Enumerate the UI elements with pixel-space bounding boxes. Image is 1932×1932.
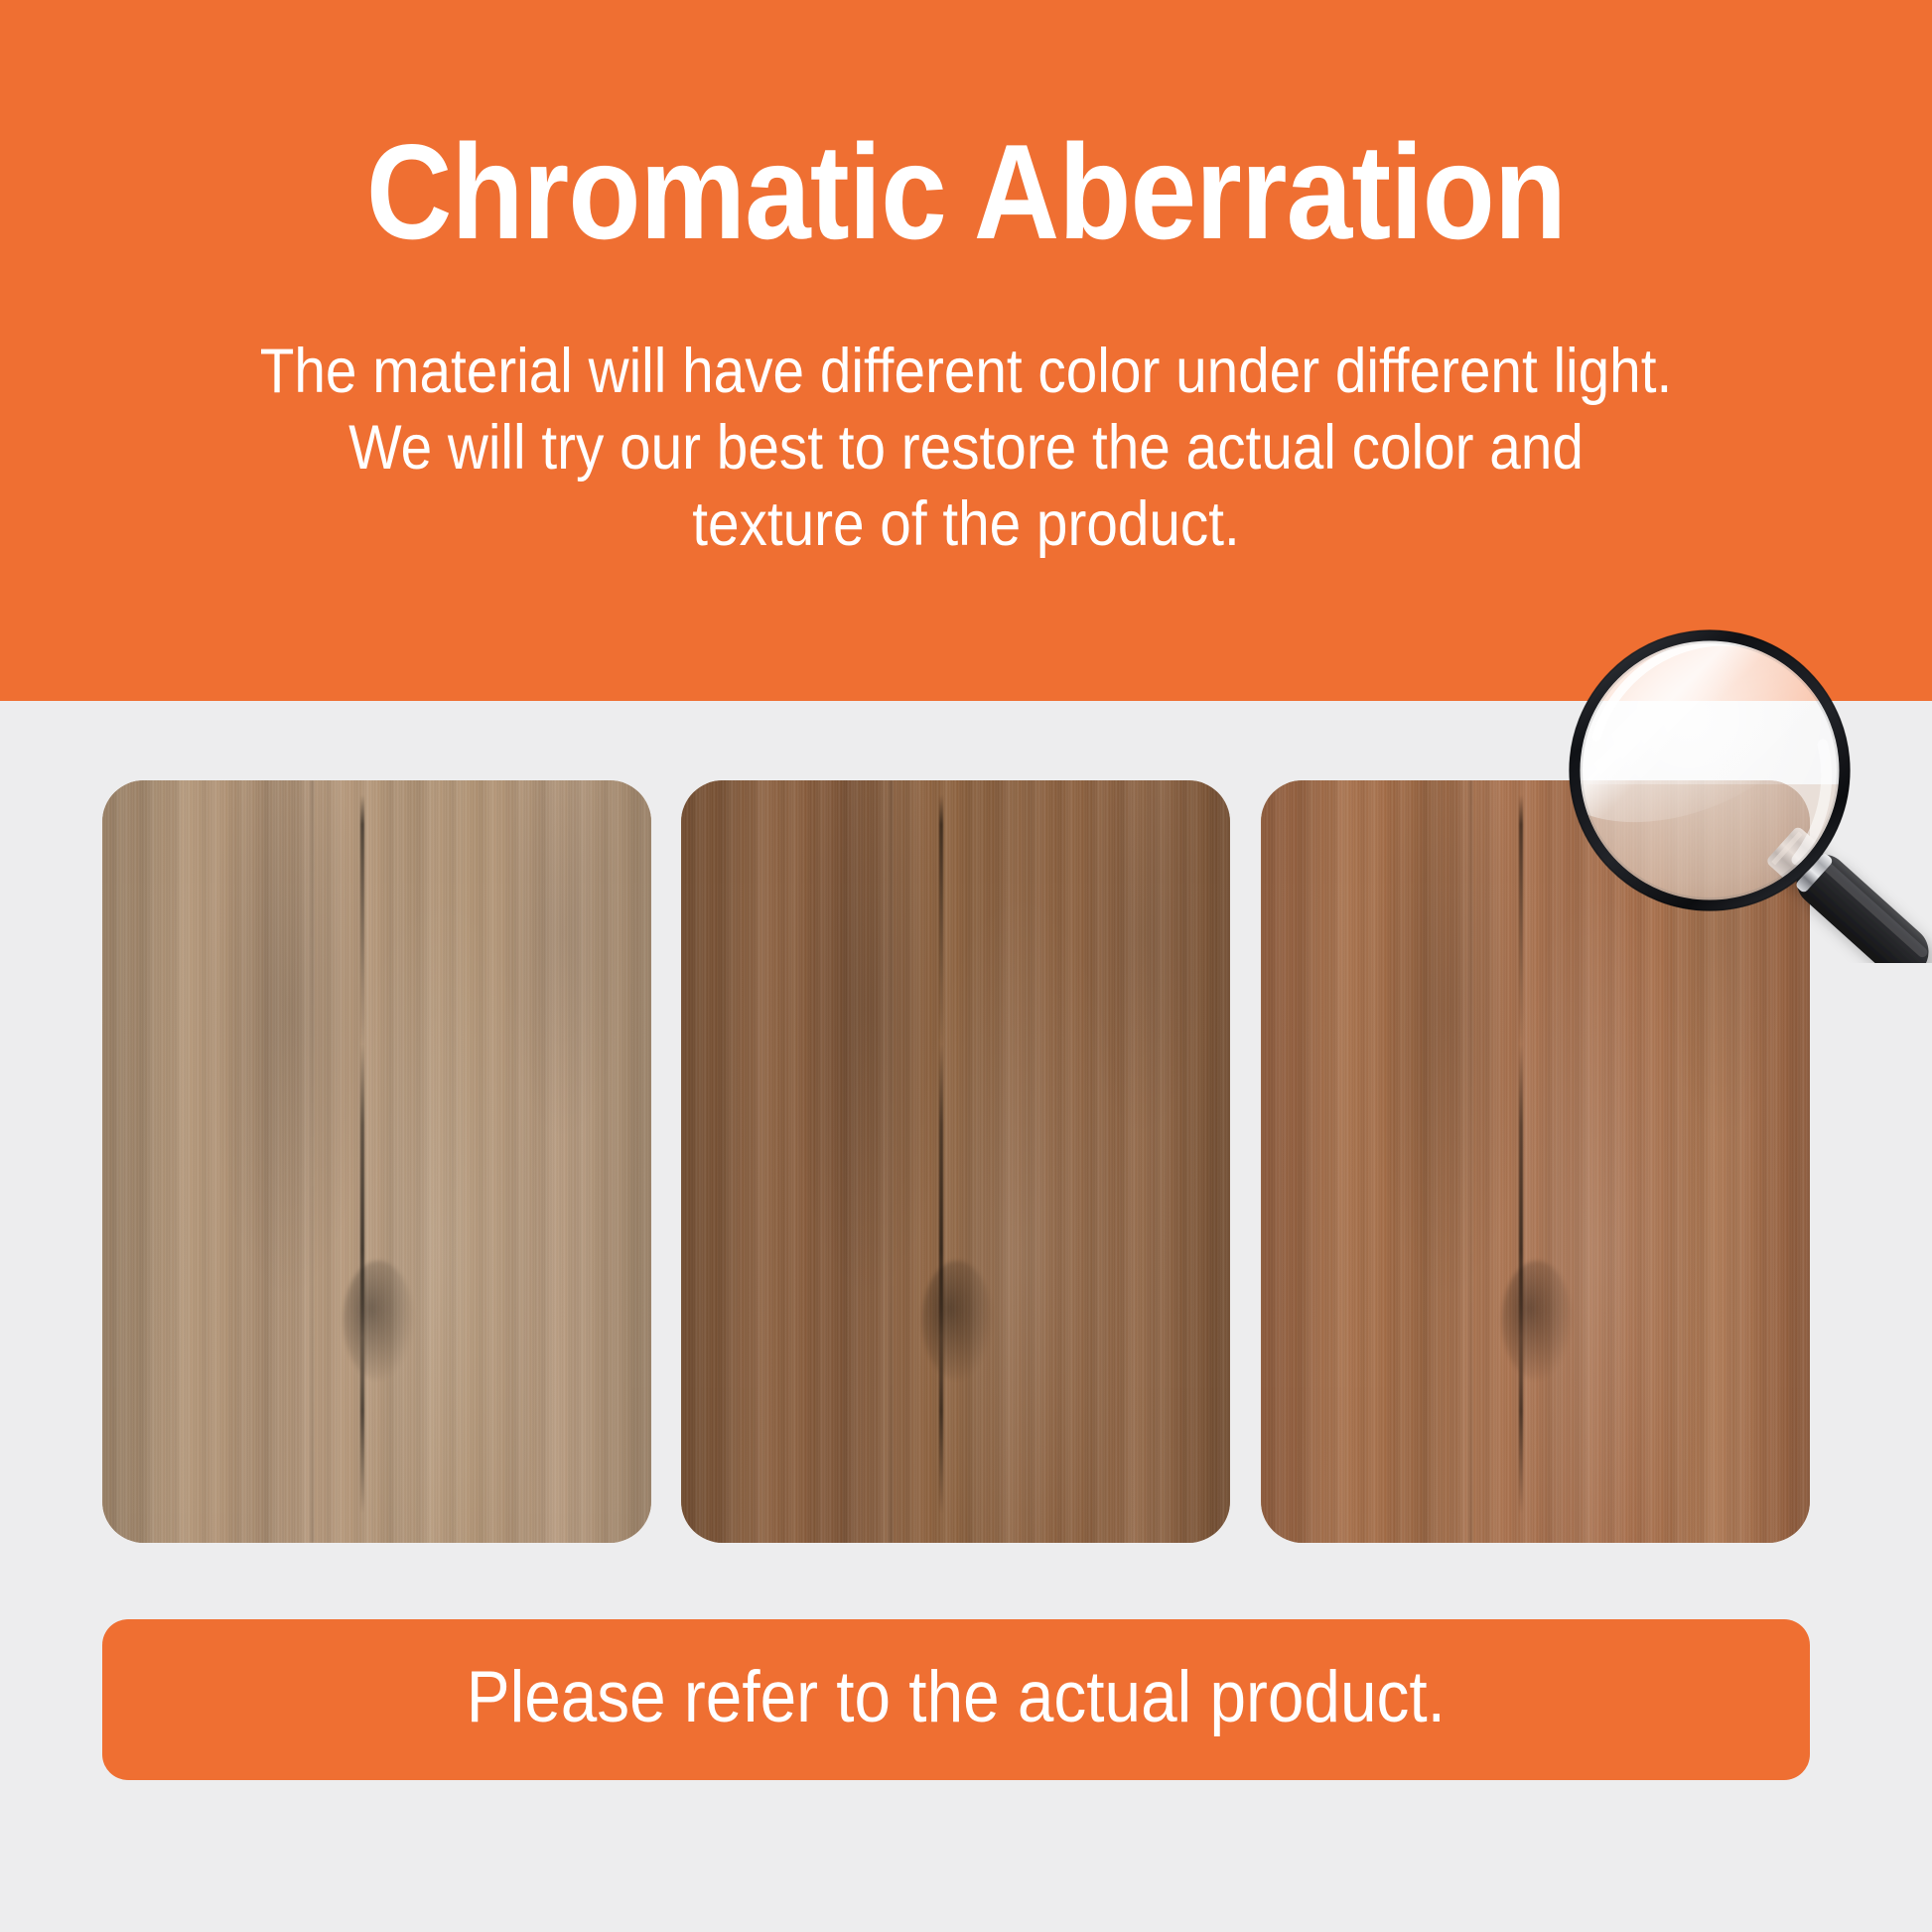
wood-crack	[360, 795, 364, 1527]
header-banner: Chromatic Aberration The material will h…	[0, 0, 1932, 701]
wood-swatch-row	[102, 780, 1810, 1543]
wood-knot	[922, 1261, 992, 1380]
subtitle-line-2: We will try our best to restore the actu…	[96, 410, 1835, 486]
medium-brown-swatch[interactable]	[681, 780, 1230, 1543]
header-subtitle: The material will have different color u…	[96, 334, 1835, 563]
page-title: Chromatic Aberration	[116, 117, 1816, 266]
wood-knot	[344, 1261, 413, 1380]
wood-tone-variation	[102, 780, 651, 1543]
plank-seam	[1469, 780, 1472, 1543]
warm-reddish-brown-swatch[interactable]	[1261, 780, 1810, 1543]
cta-label: Please refer to the actual product.	[467, 1658, 1446, 1737]
plank-seam	[311, 780, 314, 1543]
wood-tone-variation	[1261, 780, 1810, 1543]
light-oak-swatch[interactable]	[102, 780, 651, 1543]
wood-knot	[1502, 1261, 1572, 1380]
refer-to-actual-product-button[interactable]: Please refer to the actual product.	[102, 1619, 1810, 1780]
wood-crack	[939, 795, 943, 1527]
subtitle-line-1: The material will have different color u…	[96, 334, 1835, 410]
wood-crack	[1519, 795, 1523, 1527]
plank-seam	[890, 780, 893, 1543]
wood-tone-variation	[681, 780, 1230, 1543]
chromatic-aberration-infographic: Chromatic Aberration The material will h…	[0, 0, 1932, 1932]
subtitle-line-3: texture of the product.	[96, 486, 1835, 563]
